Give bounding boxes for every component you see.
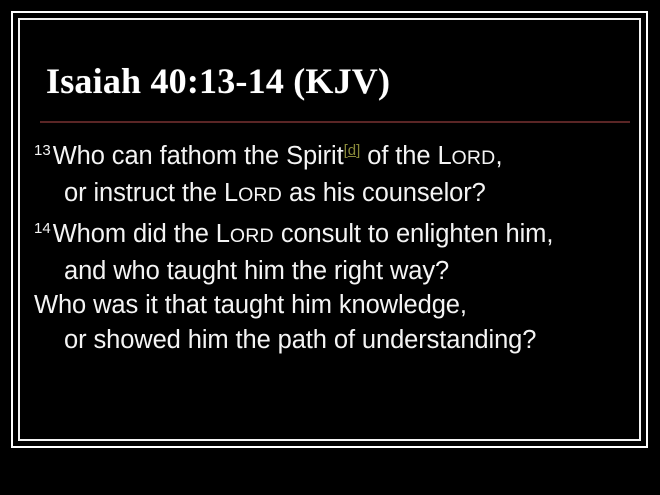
divine-name-initial: L — [216, 220, 230, 248]
divine-name-smallcaps: ORD — [238, 184, 282, 206]
verse-line: or showed him the path of understanding? — [34, 323, 632, 358]
verse-text: and who taught him the right way? — [64, 257, 449, 285]
slide-content: Isaiah 40:13-14 (KJV) 13Who can fathom t… — [26, 26, 633, 433]
footnote-letter: d — [348, 142, 356, 159]
divine-name-smallcaps: ORD — [230, 225, 274, 247]
verse-text: or instruct the — [64, 179, 224, 207]
verse-line: 13Who can fathom the Spirit[d] of the LO… — [34, 134, 632, 176]
verse-number: 13 — [34, 142, 53, 159]
divine-name-smallcaps: ORD — [452, 147, 496, 169]
verse-line: Who was it that taught him knowledge, — [34, 288, 632, 323]
divine-name-initial: L — [437, 142, 451, 170]
verse-text: or showed him the path of understanding? — [64, 326, 536, 354]
verse-line: 14Whom did the LORD consult to enlighten… — [34, 212, 632, 254]
verse-line: or instruct the LORD as his counselor? — [34, 176, 632, 213]
scripture-body: 13Who can fathom the Spirit[d] of the LO… — [34, 134, 632, 357]
verse-number: 14 — [34, 220, 53, 237]
page-title: Isaiah 40:13-14 (KJV) — [46, 60, 390, 102]
presentation-slide: Isaiah 40:13-14 (KJV) 13Who can fathom t… — [0, 0, 660, 495]
divine-name-initial: L — [224, 179, 238, 207]
verse-text: Who was it that taught him knowledge, — [34, 291, 467, 319]
verse-line: and who taught him the right way? — [34, 254, 632, 289]
verse-text-tail: consult to enlighten him, — [274, 220, 553, 248]
footnote-reference-link[interactable]: [d] — [344, 142, 361, 159]
verse-text: Whom did the — [53, 220, 216, 248]
verse-text: Who can fathom the Spirit — [53, 142, 344, 170]
verse-text-tail: , — [495, 142, 502, 170]
verse-text-tail: as his counselor? — [282, 179, 486, 207]
title-divider-rule — [40, 121, 630, 123]
verse-text-continued: of the — [360, 142, 437, 170]
